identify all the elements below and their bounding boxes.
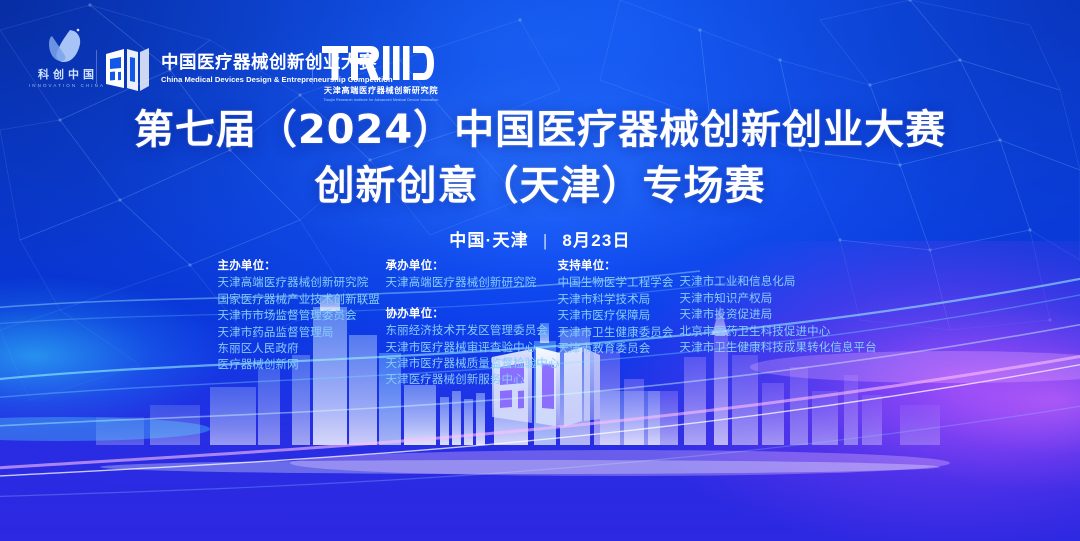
triid-logo: 天津高端医疗器械创新研究院 Tianjin Research Institute… <box>322 46 440 102</box>
support-unit-item: 天津市工业和信息化局 <box>680 274 865 290</box>
support-units-column: 支持单位： 中国生物医学工程学会 天津市科学技术局 天津市医疗保障局 天津市卫生… <box>558 258 863 389</box>
support-unit-item: 北京市医药卫生科技促进中心 <box>680 324 865 340</box>
host-unit-item: 医疗器械创新网 <box>218 357 386 373</box>
support-unit-item: 天津市知识产权局 <box>680 291 865 307</box>
open-book-door-icon <box>104 46 151 91</box>
column-spacer <box>386 292 558 306</box>
host-unit-item: 天津市市场监督管理委员会 <box>218 308 386 324</box>
coorganizer-units-heading: 协办单位： <box>386 306 558 322</box>
support-unit-item: 天津市教育委员会 <box>558 341 674 357</box>
header-logo-bar: 科创中国 INNOVATION CHINA <box>0 22 1080 88</box>
host-unit-item: 东丽区人民政府 <box>218 341 386 357</box>
host-units-column: 主办单位： 天津高端医疗器械创新研究院 国家医疗器械产业技术创新联盟 天津市市场… <box>218 258 386 389</box>
coorganizer-unit-item: 天津医疗器械创新服务中心 <box>386 372 558 388</box>
date-location-line: 中国·天津 | 8月23日 <box>0 226 1080 251</box>
kechuang-zhongguo-logo: 科创中国 INNOVATION CHINA <box>18 26 114 88</box>
host-unit-item: 天津高端医疗器械创新研究院 <box>218 275 386 291</box>
kechuang-cn-label: 科创中国 <box>34 66 98 82</box>
support-units-sub-column-a: 支持单位： 中国生物医学工程学会 天津市科学技术局 天津市医疗保障局 天津市卫生… <box>558 258 674 389</box>
support-unit-item: 天津市投资促进局 <box>680 307 865 323</box>
kechuang-bird-icon <box>40 28 92 64</box>
support-units-sub-column-b: 天津市工业和信息化局 天津市知识产权局 天津市投资促进局 北京市医药卫生科技促进… <box>680 258 865 389</box>
units-section: 主办单位： 天津高端医疗器械创新研究院 国家医疗器械产业技术创新联盟 天津市市场… <box>0 258 1080 389</box>
triid-en-label: Tianjin Research Institute for Advanced … <box>322 98 440 102</box>
triid-wordmark-icon <box>322 46 434 80</box>
host-unit-item: 天津市药品监督管理局 <box>218 325 386 341</box>
organizer-unit-item: 天津高端医疗器械创新研究院 <box>386 275 558 291</box>
support-units-heading: 支持单位： <box>558 258 674 274</box>
organizer-units-heading: 承办单位： <box>386 258 558 274</box>
support-unit-item: 天津市医疗保障局 <box>558 308 674 324</box>
logo-divider-2 <box>312 50 313 84</box>
coorganizer-unit-item: 东丽经济技术开发区管理委员会 <box>386 323 558 339</box>
kechuang-en-label: INNOVATION CHINA <box>27 83 105 88</box>
date-separator: | <box>543 231 549 251</box>
host-units-heading: 主办单位： <box>218 258 386 274</box>
support-unit-item: 中国生物医学工程学会 <box>558 275 674 291</box>
title-line-1: 第七届（2024）中国医疗器械创新创业大赛 <box>0 104 1080 156</box>
organizer-units-column: 承办单位： 天津高端医疗器械创新研究院 协办单位： 东丽经济技术开发区管理委员会… <box>386 258 558 389</box>
coorganizer-unit-item: 天津市医疗器械审评查验中心 <box>386 340 558 356</box>
host-unit-item: 国家医疗器械产业技术创新联盟 <box>218 292 386 308</box>
title-line-2: 创新创意（天津）专场赛 <box>0 160 1080 212</box>
support-column-pad <box>680 258 865 274</box>
support-unit-item: 天津市卫生健康科技成果转化信息平台 <box>680 340 865 356</box>
coorganizer-unit-item: 天津市医疗器械质量监督检验中心 <box>386 356 558 372</box>
event-poster: 科创中国 INNOVATION CHINA <box>0 0 1080 541</box>
support-unit-item: 天津市科学技术局 <box>558 292 674 308</box>
poster-title: 第七届（2024）中国医疗器械创新创业大赛 创新创意（天津）专场赛 <box>0 104 1080 212</box>
support-unit-item: 天津市卫生健康委员会 <box>558 325 674 341</box>
date-text: 8月23日 <box>562 231 630 250</box>
location-text: 中国·天津 <box>449 231 529 250</box>
logo-divider-1 <box>96 50 97 84</box>
triid-cn-label: 天津高端医疗器械创新研究院 <box>322 84 440 96</box>
